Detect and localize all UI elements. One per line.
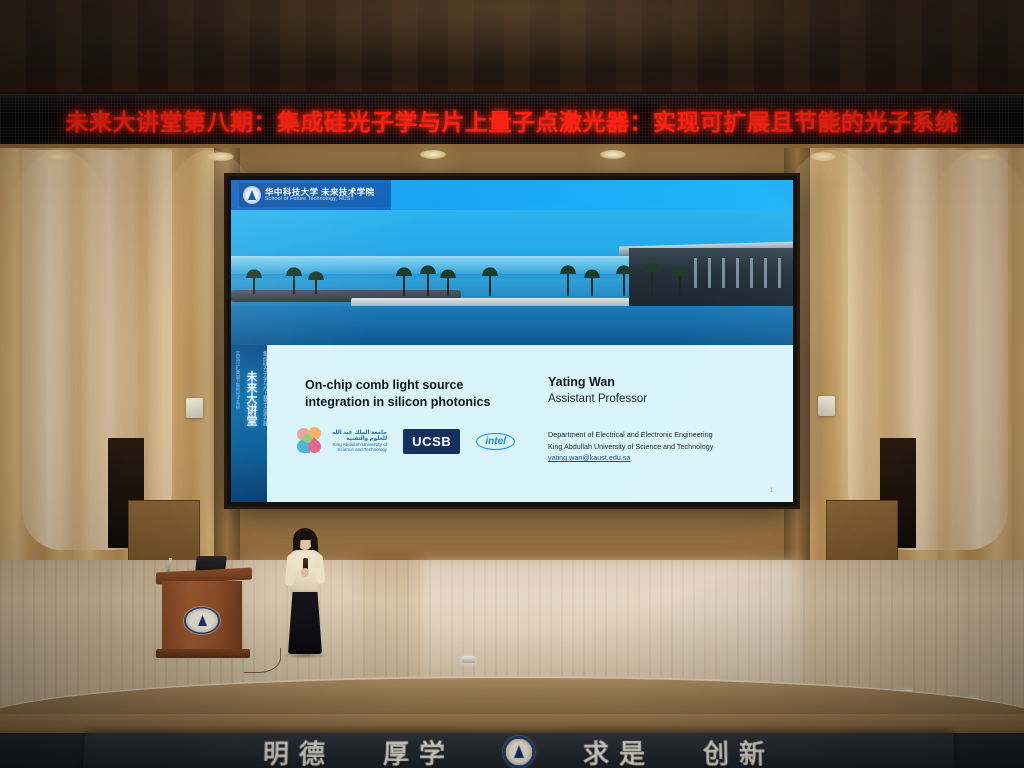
ceiling-downlight <box>208 152 234 161</box>
hust-emblem-icon <box>184 607 220 634</box>
side-banner-subtitle-left: 实现可扩展且节能的光子系统 <box>232 351 240 410</box>
palm-tree <box>253 274 255 294</box>
led-banner: 未来大讲堂第八期：集成硅光子学与片上量子点激光器：实现可扩展且节能的光子系统 <box>0 92 1024 148</box>
motto-panel-left-extension <box>0 733 90 768</box>
speaker-email[interactable]: yating.wan@kaust.edu.sa <box>548 452 713 464</box>
palm-tree <box>315 276 317 294</box>
wall-speaker-right <box>818 396 835 416</box>
lectern-base <box>156 649 250 658</box>
ceiling-downlight <box>44 152 70 161</box>
motto-word-2: 厚学 <box>383 734 455 768</box>
speaker-name: Yating Wan <box>548 375 615 389</box>
building-window <box>694 258 697 288</box>
speaker-affiliation: Department of Electrical and Electronic … <box>548 429 713 464</box>
auditorium-photo: 未来大讲堂第八期：集成硅光子学与片上量子点激光器：实现可扩展且节能的光子系统 华… <box>0 0 1024 768</box>
ceiling <box>0 0 1024 92</box>
motto-panel-right-extension <box>944 733 1024 768</box>
palm-tree <box>403 272 405 296</box>
slide-side-banner: 集成硅光子学与片上量子点激光器 未来大讲堂 实现可扩展且节能的光子系统 <box>231 345 267 502</box>
slide-logo-en: School of Future Technology, HUST <box>265 197 375 202</box>
kaust-logo-mark-icon <box>297 427 327 455</box>
motto-word-3: 求是 <box>583 734 655 768</box>
building-window <box>736 258 739 288</box>
ceiling-glow <box>120 0 900 70</box>
kaust-english-line2: Science and Technology <box>337 447 387 452</box>
ceiling-downlight <box>810 152 836 161</box>
building-window <box>750 258 753 288</box>
palm-tree <box>651 268 653 296</box>
ceiling-downlight <box>600 150 626 159</box>
palm-tree <box>679 272 681 296</box>
slide-header-fill <box>391 180 793 210</box>
hust-logo-block: 华中科技大学 未来技术学院 School of Future Technolog… <box>239 183 391 207</box>
palm-tree <box>447 274 449 296</box>
led-banner-text: 未来大讲堂第八期：集成硅光子学与片上量子点激光器：实现可扩展且节能的光子系统 <box>66 103 959 137</box>
speaker-institution: King Abdullah University of Science and … <box>548 441 713 453</box>
building-window <box>722 258 725 288</box>
kaust-building <box>629 248 793 306</box>
wall-speaker-left <box>186 398 203 418</box>
slide-title: On-chip comb light source integration in… <box>305 377 520 411</box>
motto-word-4: 创新 <box>703 734 776 768</box>
presenter-hand <box>301 568 309 577</box>
slide-photo-kaust-waterfront <box>231 210 793 345</box>
palm-tree <box>623 270 625 296</box>
palm-tree <box>567 270 569 296</box>
motto-word-1: 明德 <box>262 734 335 768</box>
building-window <box>778 258 781 288</box>
ucsb-logo: UCSB <box>403 429 460 454</box>
speaker-role: Assistant Professor <box>548 393 647 405</box>
wall-right-light-panel <box>848 150 1008 550</box>
side-banner-subtitle-right: 集成硅光子学与片上量子点激光器 <box>258 351 267 426</box>
kaust-logo: جامعة الملك عبد الله للعلوم والتقنية Kin… <box>297 427 387 455</box>
university-seal-icon <box>503 736 535 768</box>
presenter <box>281 528 329 656</box>
presenter-trousers <box>288 588 322 654</box>
ceiling-downlight <box>972 152 998 161</box>
lectern-body <box>162 581 242 651</box>
slide-page-number: 1 <box>770 488 773 494</box>
slide-body: On-chip comb light source integration in… <box>267 345 793 502</box>
palm-tree <box>489 272 491 296</box>
wall-left-light-panel <box>22 150 172 550</box>
side-banner-title: 未来大讲堂 <box>240 371 257 426</box>
sea-near <box>231 306 793 345</box>
palm-tree <box>591 274 593 296</box>
presentation-slide[interactable]: 华中科技大学 未来技术学院 School of Future Technolog… <box>231 180 793 502</box>
palm-tree <box>293 272 295 294</box>
palm-tree <box>427 270 429 296</box>
ceiling-downlight <box>420 150 446 159</box>
building-window <box>708 258 711 288</box>
speaker-department: Department of Electrical and Electronic … <box>548 429 713 441</box>
intel-logo: intel <box>476 433 515 450</box>
sponsor-logo-row: جامعة الملك عبد الله للعلوم والتقنية Kin… <box>297 427 515 455</box>
building-window <box>764 258 767 288</box>
presenter-arm-right <box>313 554 325 585</box>
stage-floor-fixture <box>462 656 475 663</box>
motto-panel: 明德 厚学 求是 创新 <box>83 733 955 768</box>
hust-seal-icon <box>243 186 261 204</box>
lectern <box>160 570 246 662</box>
